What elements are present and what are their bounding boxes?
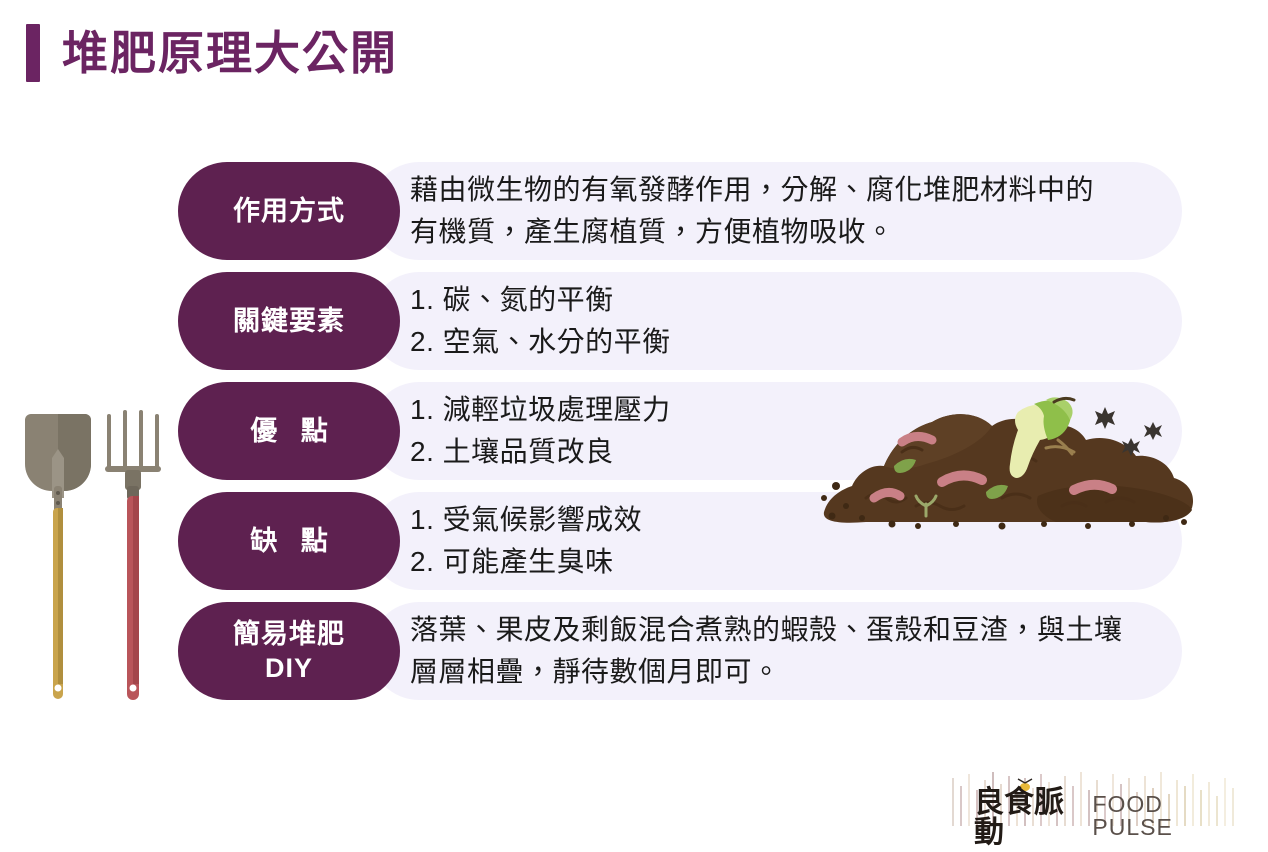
logo-cjk-text: 良食脈動 — [974, 788, 1084, 848]
garden-tools-illustration — [18, 398, 178, 710]
title-label: 堆肥原理大公開 — [62, 30, 398, 76]
row-content: 1. 受氣候影響成效 2. 可能產生臭味 — [410, 492, 1160, 590]
row-label-pill[interactable]: 簡易堆肥 DIY — [178, 602, 400, 700]
content-line: 2. 可能產生臭味 — [410, 541, 1160, 583]
content-line: 1. 碳、氮的平衡 — [410, 279, 1160, 321]
content-line: 2. 空氣、水分的平衡 — [410, 321, 1160, 363]
content-line: 落葉、果皮及剩飯混合煮熟的蝦殼、蛋殼和豆渣，與土壤 — [410, 609, 1160, 651]
table-row: 落葉、果皮及剩飯混合煮熟的蝦殼、蛋殼和豆渣，與土壤 層層相疊，靜待數個月即可。 … — [178, 602, 1182, 700]
info-rows: 藉由微生物的有氧發酵作用，分解、腐化堆肥材料中的 有機質，產生腐植質，方便植物吸… — [178, 162, 1182, 712]
table-row: 1. 碳、氮的平衡 2. 空氣、水分的平衡 關鍵要素 — [178, 272, 1182, 370]
row-label-text: 作用方式 — [233, 194, 345, 228]
row-content: 落葉、果皮及剩飯混合煮熟的蝦殼、蛋殼和豆渣，與土壤 層層相疊，靜待數個月即可。 — [410, 602, 1160, 700]
row-content: 藉由微生物的有氧發酵作用，分解、腐化堆肥材料中的 有機質，產生腐植質，方便植物吸… — [410, 162, 1160, 260]
row-content: 1. 碳、氮的平衡 2. 空氣、水分的平衡 — [410, 272, 1160, 370]
title-accent-bar — [26, 24, 40, 82]
row-label-pill[interactable]: 缺 點 — [178, 492, 400, 590]
table-row: 1. 減輕垃圾處理壓力 2. 土壤品質改良 優 點 — [178, 382, 1182, 480]
page-title: 堆肥原理大公開 — [26, 22, 398, 84]
row-label-text: 簡易堆肥 DIY — [233, 617, 345, 685]
brand-logo: 良食脈動 FOOD PULSE — [948, 772, 1238, 838]
content-line: 藉由微生物的有氧發酵作用，分解、腐化堆肥材料中的 — [410, 169, 1160, 211]
content-line: 1. 減輕垃圾處理壓力 — [410, 389, 1160, 431]
row-label-pill[interactable]: 關鍵要素 — [178, 272, 400, 370]
table-row: 藉由微生物的有氧發酵作用，分解、腐化堆肥材料中的 有機質，產生腐植質，方便植物吸… — [178, 162, 1182, 260]
shovel-icon — [25, 414, 91, 699]
row-label-pill[interactable]: 優 點 — [178, 382, 400, 480]
row-label-text: 優 點 — [242, 414, 336, 448]
content-line: 1. 受氣候影響成效 — [410, 499, 1160, 541]
row-label-pill[interactable]: 作用方式 — [178, 162, 400, 260]
content-line: 層層相疊，靜待數個月即可。 — [410, 651, 1160, 693]
table-row: 1. 受氣候影響成效 2. 可能產生臭味 缺 點 — [178, 492, 1182, 590]
row-label-text: 缺 點 — [242, 524, 336, 558]
row-content: 1. 減輕垃圾處理壓力 2. 土壤品質改良 — [410, 382, 1160, 480]
row-label-text: 關鍵要素 — [233, 304, 345, 338]
content-line: 有機質，產生腐植質，方便植物吸收。 — [410, 211, 1160, 253]
content-line: 2. 土壤品質改良 — [410, 431, 1160, 473]
logo-latin-text: FOOD PULSE — [1092, 793, 1238, 839]
pitchfork-icon — [105, 410, 161, 700]
